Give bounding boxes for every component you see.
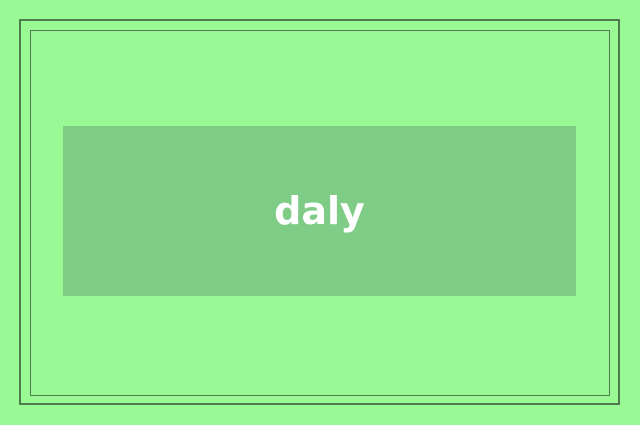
panel-label: daly [274,192,365,230]
content-panel: daly [63,126,576,296]
stage: daly [0,0,640,425]
